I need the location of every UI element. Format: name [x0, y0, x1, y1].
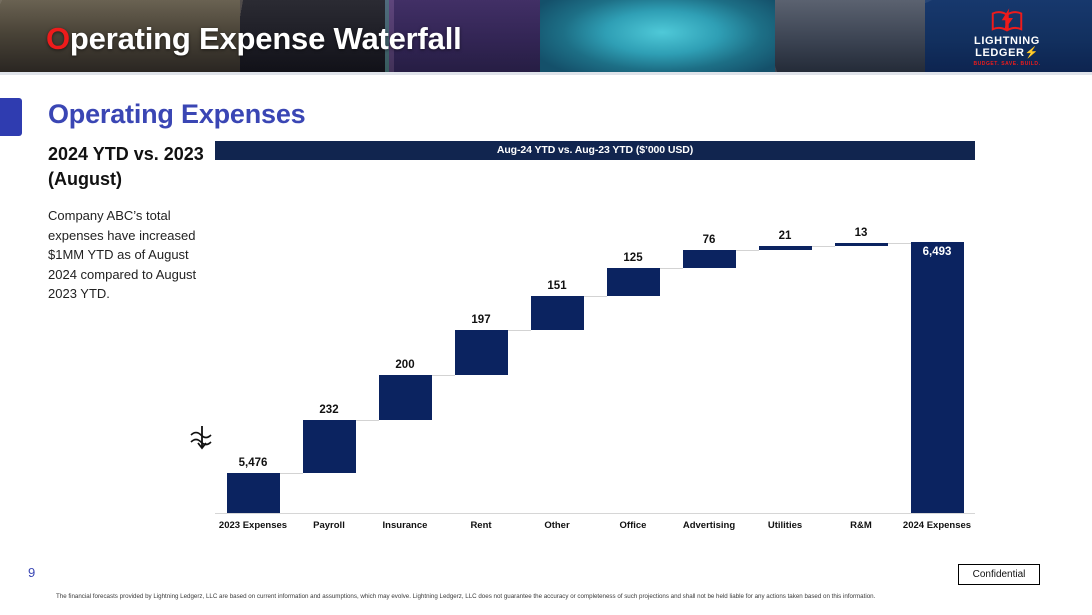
waterfall-connector [812, 246, 835, 247]
bar-value-label: 125 [593, 252, 673, 264]
waterfall-connector [888, 243, 911, 244]
bar-value-label: 76 [669, 234, 749, 246]
header-title: Operating Expense Waterfall [46, 21, 462, 57]
waterfall-connector [508, 330, 531, 331]
x-axis-tick-label: 2024 Expenses [882, 520, 992, 531]
lightning-bolt-icon: ⚡ [1025, 47, 1039, 59]
title-accent-block [0, 98, 22, 136]
page-title: Operating Expenses [48, 99, 306, 130]
page-number: 9 [28, 565, 35, 580]
bar-value-label: 5,476 [213, 457, 293, 469]
logo-line-2: LEDGER⚡ [975, 48, 1039, 60]
bar-value-label: 21 [745, 230, 825, 242]
bar-value-label: 197 [441, 314, 521, 326]
chart-axis-line [215, 513, 975, 514]
bar-value-label: 13 [821, 227, 901, 239]
bar-other [531, 296, 584, 330]
waterfall-connector [280, 473, 303, 474]
bar-insurance [379, 375, 432, 420]
bar-value-label: 232 [289, 404, 369, 416]
commentary-text: Company ABC’s total expenses have increa… [48, 206, 198, 304]
bar-value-label: 151 [517, 280, 597, 292]
waterfall-connector [356, 420, 379, 421]
page-subtitle: 2024 YTD vs. 2023 (August) [48, 142, 213, 192]
logo-line-2-text: LEDGER [975, 47, 1024, 59]
header-title-rest: perating Expense Waterfall [70, 21, 462, 56]
bar-r-m [835, 243, 888, 246]
bar-value-label: 6,493 [897, 246, 977, 258]
bar-payroll [303, 420, 356, 473]
waterfall-connector [584, 296, 607, 297]
header-photo-aerial-park [540, 0, 775, 72]
waterfall-chart: Aug-24 YTD vs. Aug-23 YTD ($’000 USD) 5,… [215, 141, 975, 541]
confidential-badge: Confidential [958, 564, 1040, 585]
waterfall-connector [660, 268, 683, 269]
header-title-accent-letter: O [46, 21, 70, 56]
disclaimer-text: The financial forecasts provided by Ligh… [56, 592, 1046, 601]
axis-break-icon [189, 423, 215, 453]
waterfall-connector [736, 250, 759, 251]
header-photo-traffic [775, 0, 925, 72]
logo-tagline: BUDGET. SAVE. BUILD. [973, 61, 1040, 67]
bar-2024-expenses [911, 242, 964, 513]
chart-title: Aug-24 YTD vs. Aug-23 YTD ($’000 USD) [215, 141, 975, 160]
bar-utilities [759, 246, 812, 251]
bar-office [607, 268, 660, 296]
waterfall-connector [432, 375, 455, 376]
bar-2023-expenses [227, 473, 280, 513]
book-lightning-icon [989, 6, 1025, 36]
header-divider [0, 72, 1092, 75]
bar-rent [455, 330, 508, 375]
bar-advertising [683, 250, 736, 267]
bar-value-label: 200 [365, 359, 445, 371]
brand-logo: LIGHTNING LEDGER⚡ BUDGET. SAVE. BUILD. [963, 6, 1051, 68]
